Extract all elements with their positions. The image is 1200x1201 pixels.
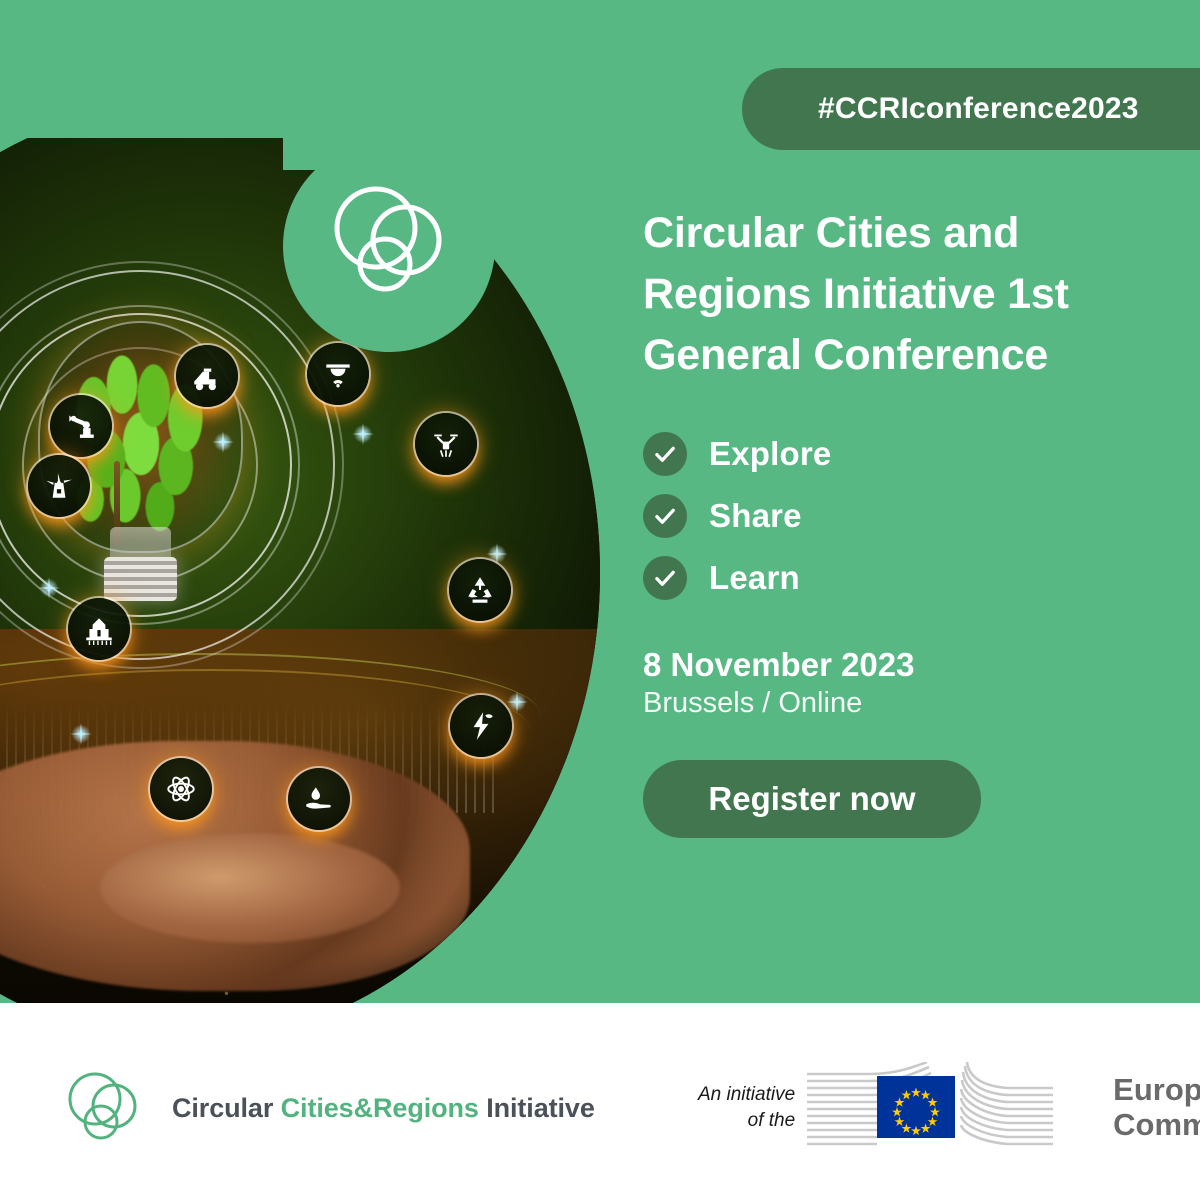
- cctv-camera-icon: [307, 343, 369, 405]
- european-commission-logo: An initiative of the: [698, 1062, 1200, 1154]
- benefit-label: Explore: [709, 435, 831, 473]
- ccri-word-regions: Regions: [373, 1093, 479, 1123]
- benefit-item-share: Share: [643, 494, 1163, 538]
- hashtag-label: #CCRIconference2023: [818, 92, 1139, 126]
- bulb-screw-base: [104, 557, 177, 601]
- check-icon: [643, 556, 687, 600]
- ccri-word-amp: &: [354, 1093, 373, 1123]
- page-title: Circular Cities and Regions Initiative 1…: [643, 203, 1163, 386]
- connector-spark: [70, 723, 92, 745]
- ccri-word-circular: Circular: [172, 1093, 273, 1123]
- robotic-arm-icon: [50, 395, 112, 457]
- connector-spark: [38, 577, 60, 599]
- ccri-circles-icon: [324, 178, 460, 308]
- ccri-word-cities: Cities: [281, 1093, 354, 1123]
- connector-spark: [212, 431, 234, 453]
- poster-content: Circular Cities and Regions Initiative 1…: [643, 203, 1163, 838]
- benefit-label: Share: [709, 497, 802, 535]
- windmill-icon: [28, 455, 90, 517]
- connector-spark: [506, 691, 528, 713]
- connector-spark: [352, 423, 374, 445]
- hand-fingers: [100, 833, 400, 943]
- ccri-word-initiative: Initiative: [486, 1093, 595, 1123]
- ccri-logo: Circular Cities&Regions Initiative: [62, 1067, 595, 1149]
- check-icon: [643, 432, 687, 476]
- ccri-circles-icon: [62, 1067, 148, 1149]
- initiative-line-2: of the: [748, 1110, 796, 1131]
- conference-promo-poster: #CCRIconference2023: [0, 0, 1200, 1201]
- ec-name-line-1: European: [1113, 1072, 1200, 1107]
- recycle-icon: [449, 559, 511, 621]
- drone-irrigation-icon: [415, 413, 477, 475]
- check-icon: [643, 494, 687, 538]
- hashtag-banner: #CCRIconference2023: [742, 68, 1200, 150]
- event-date: 8 November 2023: [643, 646, 1163, 684]
- tractor-loader-icon: [176, 345, 238, 407]
- benefit-item-learn: Learn: [643, 556, 1163, 600]
- event-location: Brussels / Online: [643, 687, 1163, 720]
- factory-building-icon: [68, 598, 130, 660]
- register-now-button[interactable]: Register now: [643, 760, 981, 838]
- benefit-item-explore: Explore: [643, 432, 1163, 476]
- ccri-wordmark: Circular Cities&Regions Initiative: [172, 1093, 595, 1124]
- atom-icon: [150, 758, 212, 820]
- initiative-line-1: An initiative: [698, 1084, 795, 1105]
- benefit-label: Learn: [709, 559, 800, 597]
- eu-flag-icon: [807, 1062, 1107, 1154]
- green-energy-bolt-icon: [450, 695, 512, 757]
- ec-name-line-2: Commission: [1113, 1107, 1200, 1142]
- benefits-list: Explore Share Learn: [643, 432, 1163, 600]
- water-drop-hand-icon: [288, 768, 350, 830]
- european-commission-name: European Commission: [1113, 1073, 1200, 1142]
- initiative-of-the-label: An initiative of the: [698, 1082, 795, 1133]
